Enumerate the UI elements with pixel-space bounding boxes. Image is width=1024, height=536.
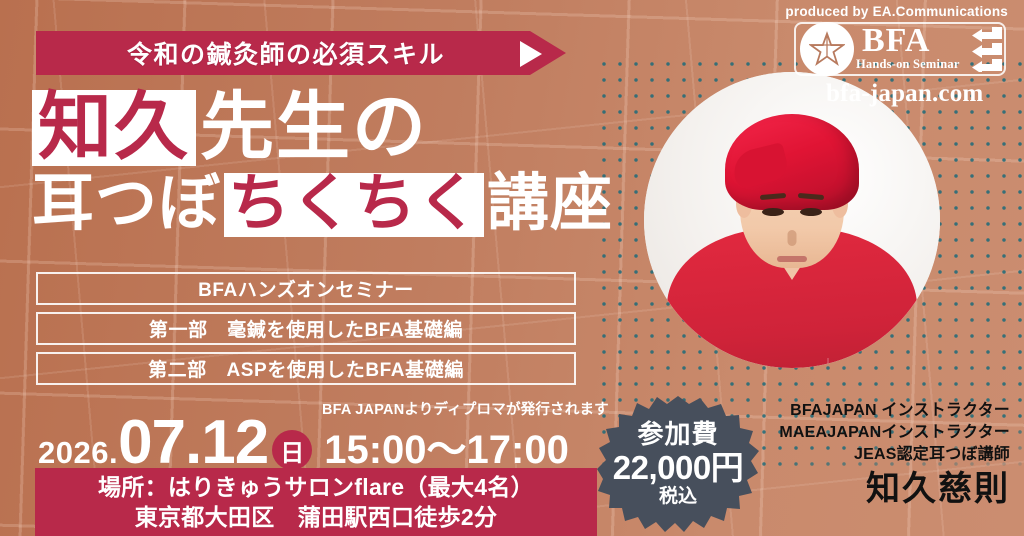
title-highlight-name: 知久 — [32, 90, 196, 166]
portrait-nose — [788, 230, 797, 246]
page-title: 知久 先生の 耳つぼ ちくちく 講座 — [32, 88, 592, 238]
logo-tagline-text: Hands-on Seminar — [856, 57, 960, 72]
credential-line-1: BFAJAPAN インストラクター — [779, 400, 1010, 422]
credential-line-2: MAEAJAPANインストラクター — [779, 422, 1010, 444]
portrait-eye-right — [800, 208, 822, 216]
title-line-2: 耳つぼ ちくちく 講座 — [32, 170, 592, 238]
price-amount: 22,000円 — [613, 449, 743, 486]
venue-bar: 場所：はりきゅうサロンflare（最大4名） 東京都大田区 蒲田駅西口徒歩2分 — [35, 468, 597, 536]
date-month-day: 07.12 — [118, 412, 268, 474]
seminar-poster: 令和の鍼灸師の必須スキル 知久 先生の 耳つぼ ちくちく 講座 BFAハンズオン… — [0, 0, 1024, 536]
title-line-2-prefix: 耳つぼ — [32, 170, 221, 238]
price-badge-text: 参加費 22,000円 税込 — [597, 396, 759, 536]
instructor-portrait — [644, 72, 940, 368]
star-outline-icon — [809, 31, 845, 67]
program-box-seminar: BFAハンズオンセミナー — [36, 272, 576, 305]
portrait-eye-left — [762, 208, 784, 216]
instructor-credentials: BFAJAPAN インストラクター MAEAJAPANインストラクター JEAS… — [779, 400, 1010, 510]
portrait-pocket — [827, 358, 863, 368]
produced-by-text: produced by EA.Communications — [785, 4, 1008, 19]
logo-brand-text: BFA — [862, 24, 930, 58]
logo-url-text: bfa-japan.com — [826, 80, 983, 108]
venue-line-1: 場所：はりきゅうサロンflare（最大4名） — [35, 472, 597, 502]
day-of-week-badge: 日 — [272, 430, 312, 470]
logo-circle — [800, 22, 854, 76]
program-list: BFAハンズオンセミナー 第一部 毫鍼を使用したBFA基礎編 第二部 ASPを使… — [36, 272, 576, 392]
venue-line-2: 東京都大田区 蒲田駅西口徒歩2分 — [35, 502, 597, 532]
price-tax-note: 税込 — [659, 486, 697, 508]
credential-line-3: JEAS認定耳つぼ講師 — [779, 444, 1010, 466]
title-line-1-rest: 先生の — [200, 88, 428, 166]
play-triangle-icon — [520, 41, 542, 67]
program-box-part2: 第二部 ASPを使用したBFA基礎編 — [36, 352, 576, 385]
instructor-name: 知久慈則 — [779, 468, 1010, 510]
tagline-text: 令和の鍼灸師の必須スキル — [127, 35, 445, 71]
title-line-2-suffix: 講座 — [487, 170, 613, 238]
tagline-ribbon: 令和の鍼灸師の必須スキル — [36, 31, 566, 75]
title-highlight-chikuchiku: ちくちく — [224, 173, 484, 237]
date-row: 2026. 07.12 日 15:00〜17:00 — [38, 412, 569, 474]
program-box-part1: 第一部 毫鍼を使用したBFA基礎編 — [36, 312, 576, 345]
price-badge: 参加費 22,000円 税込 — [597, 396, 759, 536]
title-line-1: 知久 先生の — [32, 88, 592, 166]
triple-arrow-icon — [958, 26, 1002, 72]
price-label: 参加費 — [637, 419, 718, 449]
portrait-mouth — [777, 256, 807, 262]
